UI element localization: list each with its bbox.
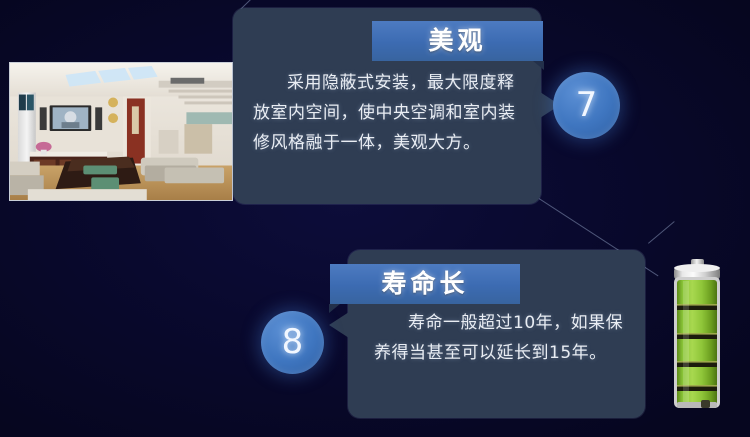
card-title-banner: 美观 bbox=[372, 21, 543, 61]
feature-card-lifespan: 寿命长 寿命一般超过10年，如果保养得当甚至可以延长到15年。 bbox=[348, 250, 645, 418]
card-tail bbox=[329, 312, 349, 338]
card-title-text: 寿命长 bbox=[381, 269, 468, 298]
step-number-badge-8: 8 bbox=[261, 311, 324, 374]
living-room-interior-photo bbox=[9, 62, 233, 201]
poster-canvas: 美观 采用隐蔽式安装，最大限度释放室内空间，使中央空调和室内装修风格融于一体，美… bbox=[0, 0, 750, 437]
step-number-badge-7: 7 bbox=[553, 72, 620, 139]
battery-icon bbox=[667, 257, 727, 417]
ribbon-fold bbox=[533, 61, 544, 70]
card-title-banner: 寿命长 bbox=[330, 264, 520, 304]
feature-card-beauty: 美观 采用隐蔽式安装，最大限度释放室内空间，使中央空调和室内装修风格融于一体，美… bbox=[233, 8, 541, 204]
card-title-text: 美观 bbox=[428, 26, 486, 55]
card-body-text: 采用隐蔽式安装，最大限度释放室内空间，使中央空调和室内装修风格融于一体，美观大方… bbox=[253, 68, 523, 158]
ribbon-fold bbox=[329, 304, 340, 313]
card-body-text: 寿命一般超过10年，如果保养得当甚至可以延长到15年。 bbox=[374, 308, 628, 368]
